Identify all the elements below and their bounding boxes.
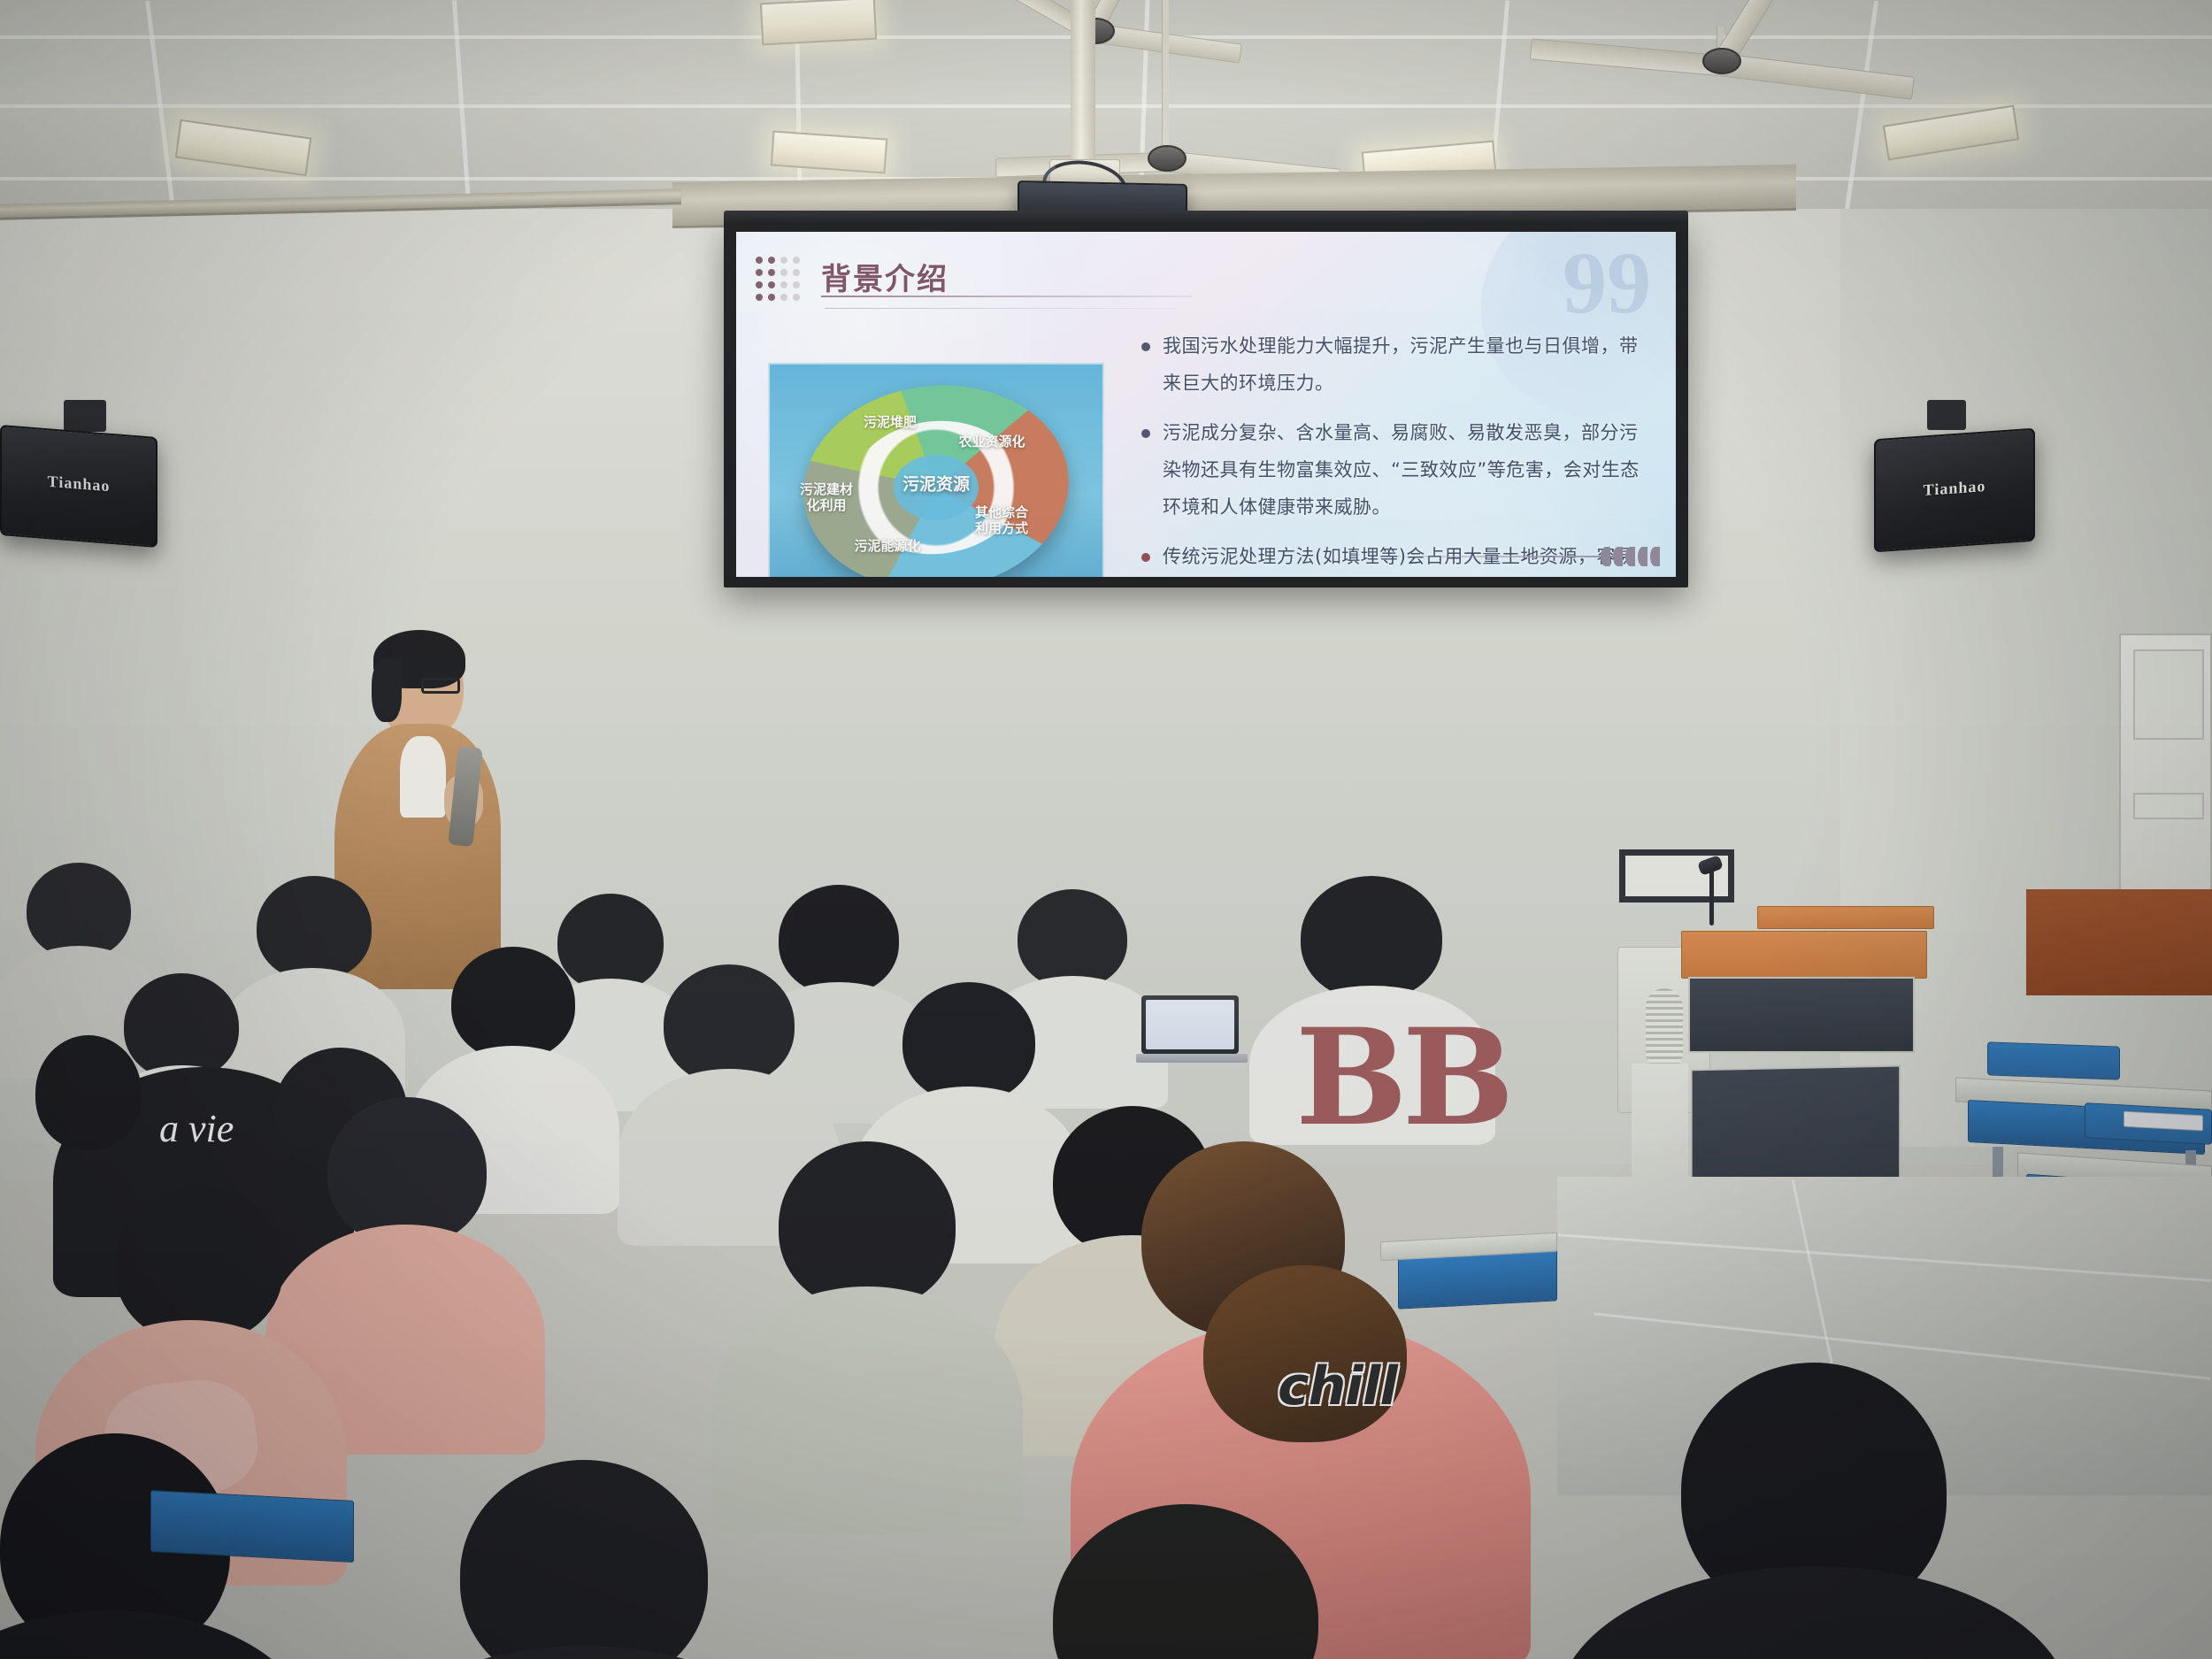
slide-canvas: 99 背景介绍 污泥堆肥 农业资源化 其他综合 利 — [736, 232, 1676, 577]
lectern-back-ledge — [1757, 906, 1934, 929]
cabinet-lower-panel — [2133, 793, 2204, 819]
lectern-upper-panel — [1688, 977, 1915, 1053]
speaker-grille — [1646, 988, 1683, 1071]
microphone-stem — [1709, 865, 1714, 926]
slide-title: 背景介绍 — [821, 255, 949, 298]
desk — [150, 1490, 354, 1563]
slide-footer-rule — [1396, 556, 1617, 557]
slide-footer-chevrons — [1601, 547, 1660, 566]
shirt-logo-bb: BB — [1295, 1000, 1509, 1156]
speaker-brand-label-left: Tianhao — [48, 472, 111, 496]
chair-back — [1987, 1041, 2120, 1079]
diagram-segment-label: 污泥能源化 — [839, 538, 936, 554]
slide-bullet: 污泥成分复杂、含水量高、易腐败、易散发恶臭，部分污染物还具有生物富集效应、“三致… — [1136, 414, 1649, 526]
lectern-top-surface — [1681, 931, 1927, 979]
presenter-shirt — [400, 736, 446, 818]
classroom-scene: Tianhao Tianhao 99 背景介绍 — [0, 0, 2212, 1659]
slide-bullet-list: 我国污水处理能力大幅提升，污泥产生量也与日俱增，带来巨大的环境压力。 污泥成分复… — [1136, 327, 1649, 577]
speaker-mount-right — [1927, 400, 1966, 430]
cabinet-upper-panel — [2133, 649, 2204, 740]
laptop-screen — [1141, 995, 1239, 1054]
laptop-display — [1146, 1000, 1234, 1049]
presenter-glasses — [421, 678, 460, 694]
wall-wood-trim — [2026, 889, 2212, 995]
diagram-segment-label: 其他综合 利用方式 — [957, 504, 1046, 536]
title-underline — [821, 296, 1193, 297]
shirt-text-a-vie: a vie — [159, 1106, 234, 1151]
quote-mark-decoration: 99 — [1563, 248, 1651, 319]
slide-bullet: 我国污水处理能力大幅提升，污泥产生量也与日俱增，带来巨大的环境压力。 — [1136, 327, 1649, 402]
sludge-resource-diagram: 污泥堆肥 农业资源化 其他综合 利用方式 污泥能源化 污泥建材 化利用 污泥资源 — [768, 363, 1104, 577]
laptop-base — [1136, 1054, 1248, 1063]
presenter-hair-side — [372, 658, 402, 722]
diagram-segment-label: 污泥堆肥 — [846, 414, 934, 430]
wall-speaker-left: Tianhao — [0, 425, 157, 548]
diagram-center-label: 污泥资源 — [902, 472, 970, 495]
diagram-segment-label: 污泥建材 化利用 — [784, 481, 869, 513]
student-laptop — [1141, 995, 1248, 1066]
projector-pole — [1071, 0, 1095, 173]
title-underline-secondary — [825, 308, 1179, 309]
ceiling-light-tube — [760, 0, 877, 45]
speaker-brand-label-right: Tianhao — [1924, 477, 1986, 500]
slide-bullet: 传统污泥处理方法(如填埋等)会占用大量土地资源，容易造成二次环境污染。 — [1136, 538, 1649, 577]
speaker-mount-left — [64, 400, 106, 432]
hoodie-logo-chill: chill — [1278, 1356, 1397, 1417]
wall-speaker-right: Tianhao — [1874, 428, 2035, 553]
title-dot-decoration — [756, 257, 802, 303]
diagram-segment-label: 农业资源化 — [943, 434, 1041, 449]
